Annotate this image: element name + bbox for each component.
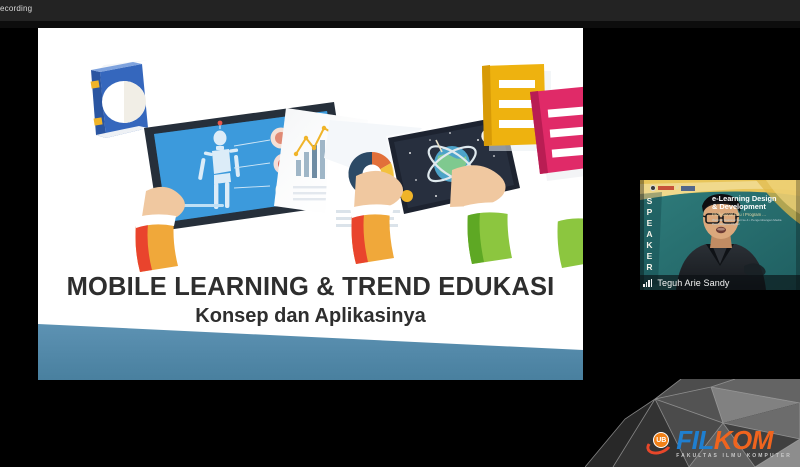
recording-label: ecording — [0, 4, 32, 13]
speaker-video-tile[interactable]: // SPEAKER e-Learning Design & Developme… — [640, 180, 800, 290]
signal-bars-icon — [643, 279, 653, 287]
partner-logo-b-icon — [681, 186, 695, 191]
filkom-watermark-logo: UB FILKOM FAKULTAS ILMU KOMPUTER — [646, 428, 792, 458]
speaker-role-label: SPEAKER — [644, 196, 656, 273]
partner-logo-a-icon — [658, 186, 674, 190]
participant-name-bar: Teguh Arie Sandy — [640, 275, 800, 290]
event-subtitle: Profesional Edu I Program ... — [712, 212, 798, 217]
logo-separator-icon: // — [676, 185, 679, 191]
webcam-banner-logos: // — [650, 185, 695, 191]
ub-badge-icon: UB — [646, 431, 674, 455]
event-detail: Webinar Nasional Seri ke-4 • Pengembanga… — [712, 218, 798, 226]
organizer-logo-icon — [650, 185, 656, 191]
participant-name: Teguh Arie Sandy — [657, 278, 729, 288]
filkom-wordmark: FILKOM FAKULTAS ILMU KOMPUTER — [676, 427, 792, 459]
filkom-suffix: KOM — [714, 425, 773, 455]
recording-toolbar: ecording — [0, 0, 800, 21]
video-conference-screen: ecording — [0, 0, 800, 467]
speaker-role-text: SPEAKER — [644, 196, 654, 273]
filkom-faculty-text: FAKULTAS ILMU KOMPUTER — [676, 454, 792, 459]
event-title-line2: & Development — [712, 203, 798, 211]
filkom-prefix: FIL — [676, 425, 714, 455]
slide-illustration — [38, 28, 583, 380]
toolbar-shadow — [0, 21, 800, 28]
shared-slide[interactable]: MOBILE LEARNING & TREND EDUKASI Konsep d… — [38, 28, 583, 380]
event-title: e-Learning Design & Development — [712, 195, 798, 212]
blue-book-illustration — [91, 60, 148, 138]
